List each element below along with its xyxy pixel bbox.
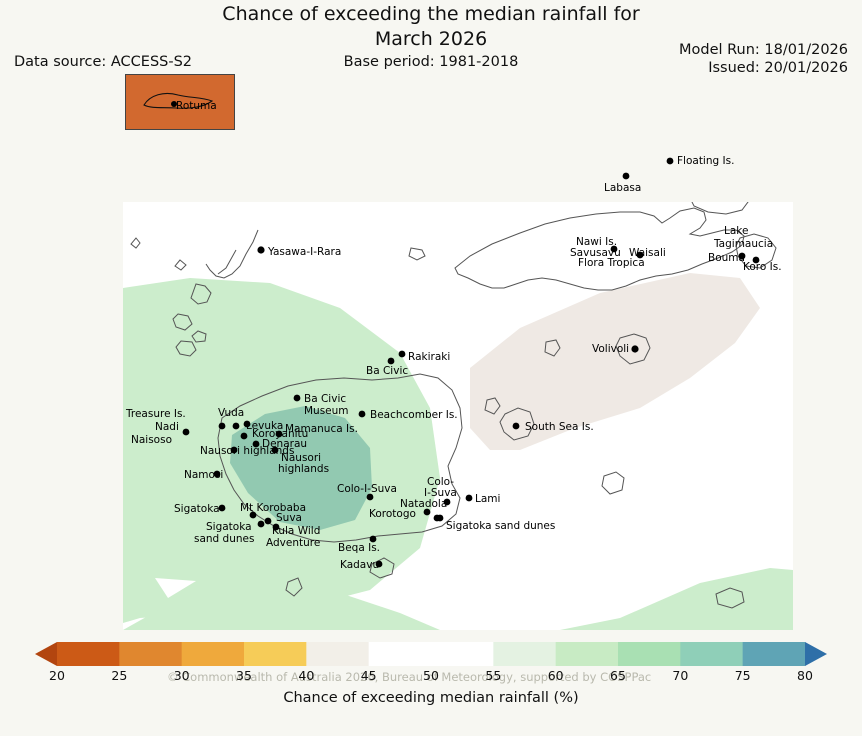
- label-beachcomber-is: Treasure Is.: [125, 408, 186, 420]
- label-south-sea-is: Nadi: [155, 421, 179, 433]
- label-namosi: Colo-I-Suva: [337, 483, 397, 495]
- label-levuka: South Sea Is.: [525, 421, 594, 433]
- label-mamanuca-is: Naisoso: [131, 434, 172, 446]
- label-treasure-is: Vuda: [218, 407, 244, 419]
- label-lake: Lake: [724, 225, 748, 237]
- colorbar-tick-label: 50: [423, 668, 439, 683]
- label-koroyanitu: Mamanuca Is.: [285, 423, 358, 435]
- colorbar-tick-label: 45: [361, 668, 377, 683]
- label-natadola: Sigatoka: [174, 503, 220, 515]
- label-rakiraki: Ba Civic: [366, 365, 408, 377]
- colorbar-extend-high: [805, 642, 827, 666]
- colorbar-tick-label: 55: [485, 668, 501, 683]
- colorbar-cell: [119, 642, 182, 666]
- colorbar-cell: [743, 642, 806, 666]
- label-mt-tomanivi: Beachcomber Is.: [370, 409, 458, 421]
- colorbar-tick-label: 75: [735, 668, 751, 683]
- label-highlands: highlands: [278, 463, 329, 475]
- label-momi: Namosi: [184, 469, 223, 481]
- label-volivoli: Rakiraki: [408, 351, 450, 363]
- colorbar-tick-label: 30: [174, 668, 190, 683]
- label-kula-wild: Kula Wild: [272, 525, 320, 537]
- label-bouma: Koro Is.: [743, 261, 782, 273]
- label-nausori-aero: Lami: [475, 493, 500, 505]
- label-floating-is: Floating Is.: [677, 155, 734, 167]
- colorbar-tick-label: 65: [610, 668, 626, 683]
- label-ba-civic: Ba Civic: [304, 393, 346, 405]
- label-yasawa: Yasawa-I-Rara: [267, 246, 341, 258]
- colorbar-cell: [182, 642, 245, 666]
- label-suva: Sigatoka sand dunes: [446, 520, 555, 532]
- colorbar-tick-label: 70: [672, 668, 688, 683]
- colorbar-tick-label: 25: [111, 668, 127, 683]
- colorbar-cell: [369, 642, 432, 666]
- colorbar-cell: [493, 642, 556, 666]
- label-flora-tropica: Flora Tropica: [578, 257, 645, 269]
- colorbar-tick-label: 40: [298, 668, 314, 683]
- label-sigatoka-sand: Sigatoka: [206, 521, 252, 533]
- colorbar-ticks: 20253035404550556065707580: [0, 668, 862, 684]
- model-run-label: Model Run: 18/01/2026: [679, 42, 848, 58]
- colorbar-cell: [306, 642, 369, 666]
- map-panel: Floating Is. Labasa Yasawa-I-Rara Nawi I…: [0, 78, 862, 638]
- issued-label: Issued: 20/01/2026: [708, 60, 848, 76]
- colorbar-cell: [680, 642, 743, 666]
- colorbar-tick-label: 35: [236, 668, 252, 683]
- label-adventure: Adventure: [266, 537, 320, 549]
- colorbar-cells: [35, 642, 827, 666]
- label-taveuni: Bouma: [708, 252, 745, 264]
- colorbar-tick-label: 60: [548, 668, 564, 683]
- label-labasa: Labasa: [604, 182, 641, 194]
- colorbar-cell: [556, 642, 619, 666]
- colorbar: 20253035404550556065707580 Chance of exc…: [0, 640, 862, 736]
- colorbar-cell: [431, 642, 494, 666]
- colorbar-tick-label: 80: [797, 668, 813, 683]
- colorbar-svg: [0, 640, 862, 668]
- title-line-1: Chance of exceeding the median rainfall …: [0, 2, 862, 27]
- label-sand-dunes: sand dunes: [194, 533, 254, 545]
- label-mt-korobaba: Korotogo: [369, 508, 416, 520]
- colorbar-cell: [244, 642, 307, 666]
- colorbar-axis-label: Chance of exceeding median rainfall (%): [0, 690, 862, 706]
- label-pacific-harbour: Beqa Is.: [338, 542, 380, 554]
- colorbar-cell: [618, 642, 681, 666]
- rotuma-inset-label: Rotuma: [176, 100, 217, 112]
- label-tagimaucia: Tagimaucia: [713, 238, 773, 250]
- colorbar-tick-label: 20: [49, 668, 65, 683]
- label-beqa-is: Kadavu: [340, 559, 379, 571]
- colorbar-cell: [57, 642, 120, 666]
- colorbar-extend-low: [35, 642, 57, 666]
- map-svg: Floating Is. Labasa Yasawa-I-Rara Nawi I…: [0, 78, 862, 638]
- label-koro-is: Volivoli: [592, 343, 629, 355]
- label-museum: Museum: [304, 405, 349, 417]
- label-korotogo: Suva: [276, 512, 302, 524]
